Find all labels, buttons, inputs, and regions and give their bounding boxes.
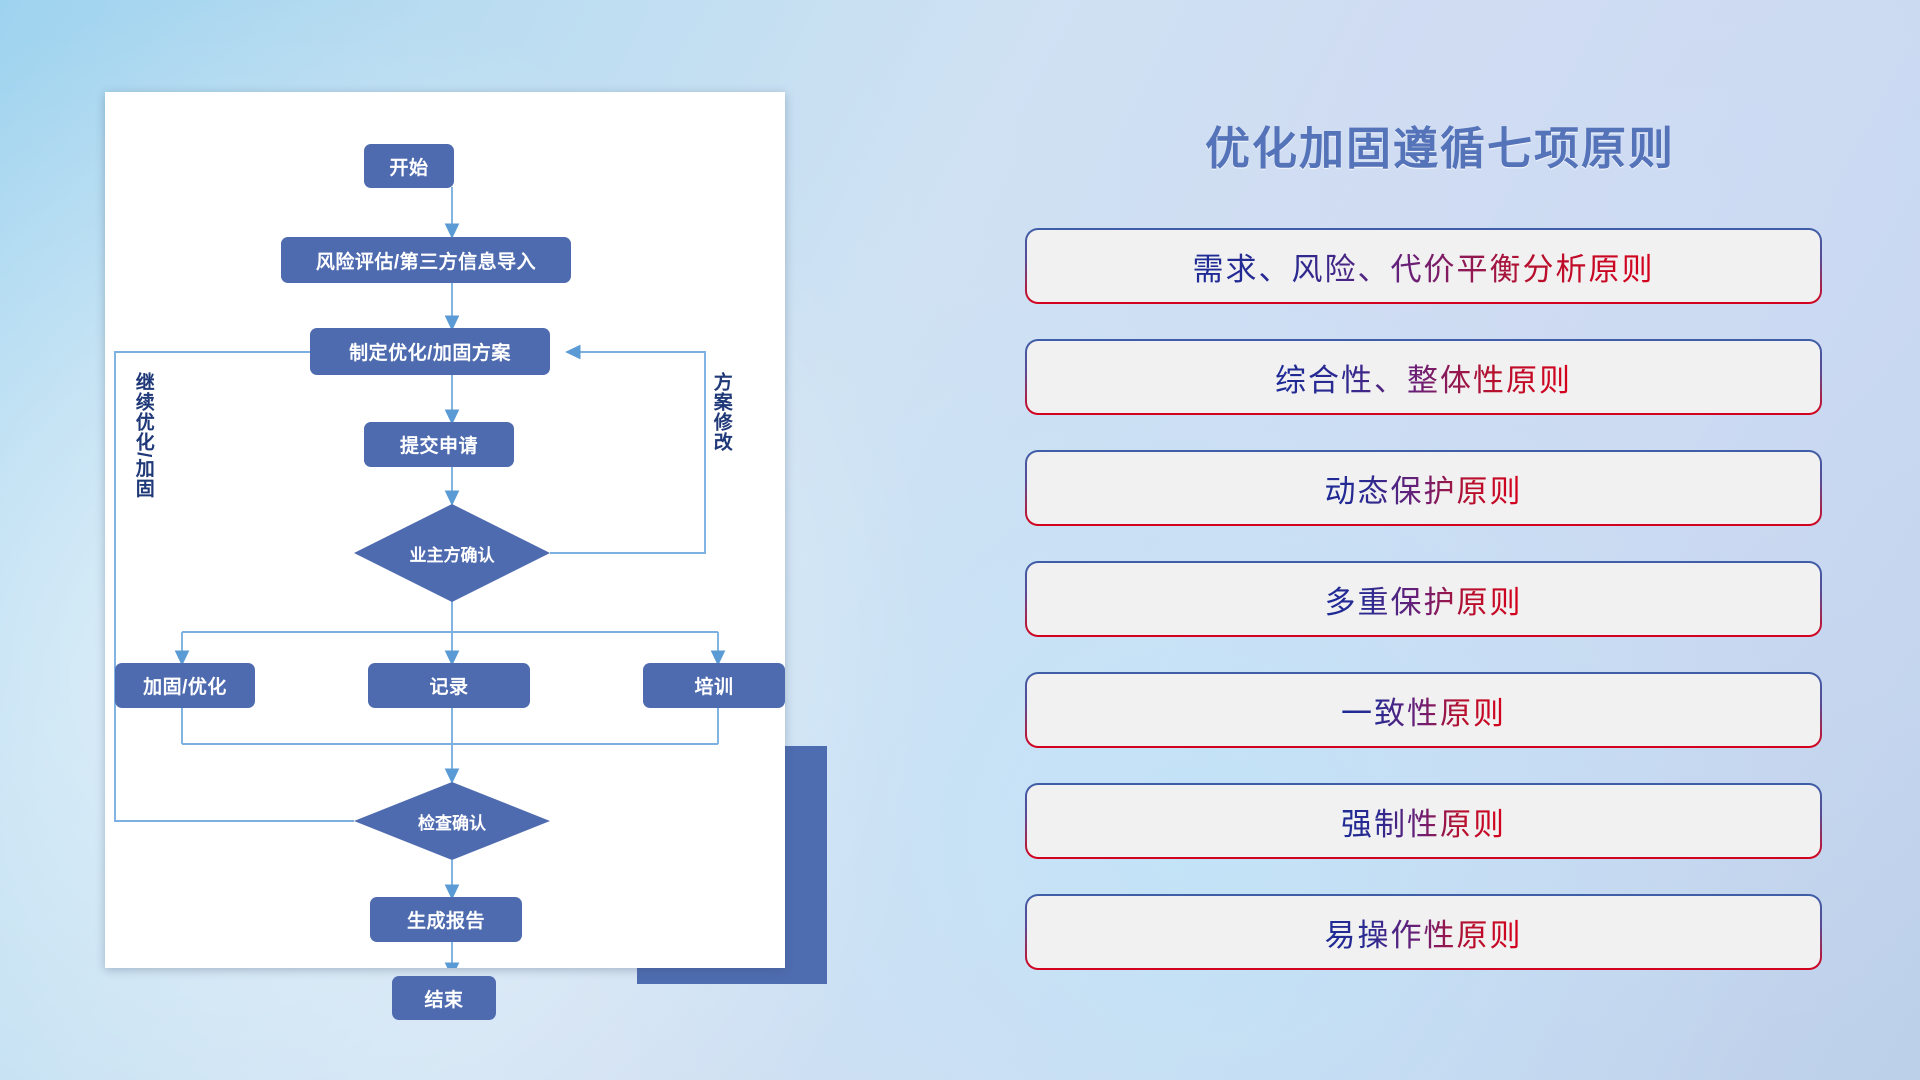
principle-item[interactable]: 易操作性原则	[1025, 894, 1822, 970]
flow-node-label: 加固/优化	[143, 672, 227, 699]
principle-card: 一致性原则	[1027, 674, 1820, 746]
flow-node-reinforce[interactable]: 加固/优化	[115, 663, 255, 708]
flow-node-label: 开始	[389, 153, 428, 180]
edge-label-plan-revision: 方案修改	[711, 372, 731, 452]
flowchart-card: 开始 风险评估/第三方信息导入 制定优化/加固方案 提交申请 业主方确认 加固/…	[105, 92, 785, 968]
flow-node-label: 培训	[694, 672, 733, 699]
principle-card: 强制性原则	[1027, 785, 1820, 857]
principles-panel: 优化加固遵循七项原则 需求、风险、代价平衡分析原则 综合性、整体性原则 动态保护…	[1000, 0, 1920, 1080]
principle-label: 需求、风险、代价平衡分析原则	[1193, 244, 1655, 289]
flow-node-label: 风险评估/第三方信息导入	[316, 247, 536, 274]
principle-label: 一致性原则	[1341, 688, 1506, 733]
flow-node-label: 检查确认	[418, 809, 486, 834]
flow-node-owner-confirm[interactable]: 业主方确认	[354, 504, 550, 602]
flow-node-risk-assessment[interactable]: 风险评估/第三方信息导入	[281, 237, 571, 283]
principle-item[interactable]: 需求、风险、代价平衡分析原则	[1025, 228, 1822, 304]
flow-node-end[interactable]: 结束	[392, 976, 496, 1020]
principle-card: 易操作性原则	[1027, 896, 1820, 968]
principle-label: 综合性、整体性原则	[1275, 355, 1572, 400]
flow-node-inspection-confirm[interactable]: 检查确认	[354, 782, 550, 860]
flow-node-submit-application[interactable]: 提交申请	[364, 422, 514, 467]
flow-node-label: 提交申请	[400, 431, 478, 458]
flow-node-label: 业主方确认	[410, 541, 495, 566]
edge-label-continue-optimize: 继续优化/加固	[133, 372, 153, 498]
flow-node-generate-report[interactable]: 生成报告	[370, 897, 522, 942]
flow-node-start[interactable]: 开始	[364, 144, 454, 188]
principle-card: 多重保护原则	[1027, 563, 1820, 635]
principle-item[interactable]: 综合性、整体性原则	[1025, 339, 1822, 415]
flow-node-label: 生成报告	[407, 906, 485, 933]
principle-label: 易操作性原则	[1325, 910, 1523, 955]
principle-item[interactable]: 强制性原则	[1025, 783, 1822, 859]
principle-item[interactable]: 多重保护原则	[1025, 561, 1822, 637]
principle-card: 需求、风险、代价平衡分析原则	[1027, 230, 1820, 302]
principle-item[interactable]: 动态保护原则	[1025, 450, 1822, 526]
flow-node-label: 记录	[429, 672, 468, 699]
flowchart-panel: 开始 风险评估/第三方信息导入 制定优化/加固方案 提交申请 业主方确认 加固/…	[0, 0, 880, 1080]
principle-item[interactable]: 一致性原则	[1025, 672, 1822, 748]
flow-node-label: 制定优化/加固方案	[349, 338, 511, 365]
flow-node-label: 结束	[424, 985, 463, 1012]
flow-node-plan[interactable]: 制定优化/加固方案	[310, 328, 550, 375]
principle-card: 综合性、整体性原则	[1027, 341, 1820, 413]
principle-label: 多重保护原则	[1325, 577, 1523, 622]
principle-label: 强制性原则	[1341, 799, 1506, 844]
principle-label: 动态保护原则	[1325, 466, 1523, 511]
flow-node-training[interactable]: 培训	[643, 663, 785, 708]
principle-card: 动态保护原则	[1027, 452, 1820, 524]
principles-list: 需求、风险、代价平衡分析原则 综合性、整体性原则 动态保护原则 多重保护原则 一…	[1025, 228, 1822, 1005]
flow-node-record[interactable]: 记录	[368, 663, 530, 708]
page-title: 优化加固遵循七项原则	[1000, 112, 1880, 177]
